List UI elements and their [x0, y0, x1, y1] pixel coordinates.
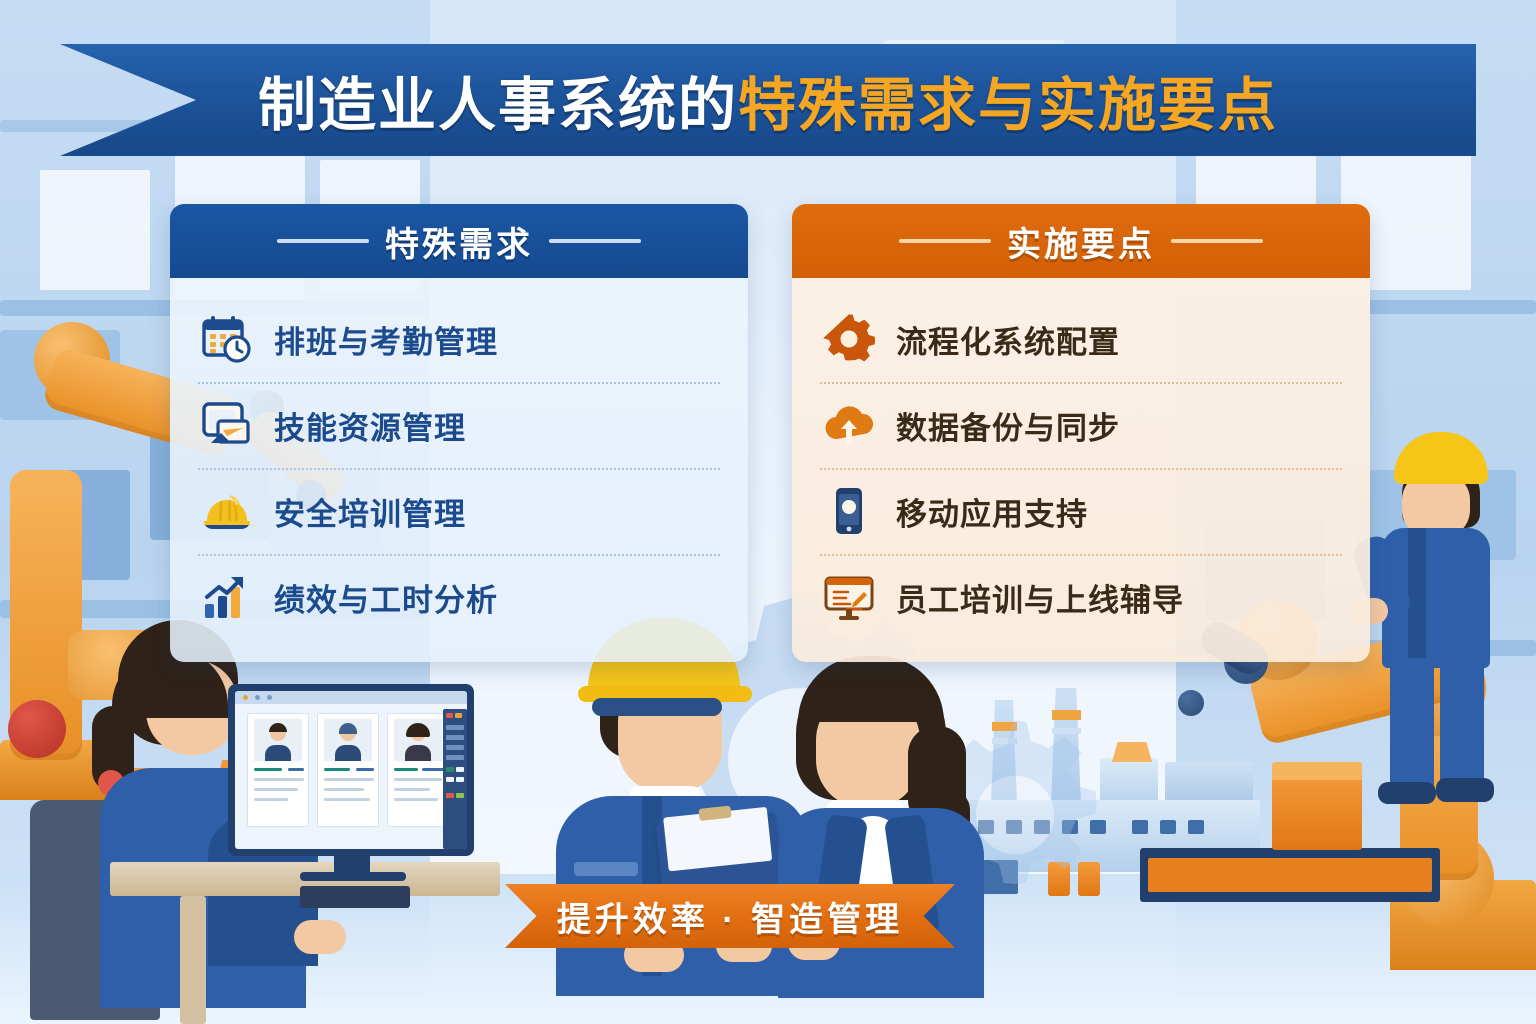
panel-right-header: 实施要点	[792, 204, 1370, 278]
header-rule-right	[1171, 239, 1263, 243]
cloud-upload-icon	[822, 398, 876, 452]
feature-label: 数据备份与同步	[896, 403, 1120, 448]
page-title: 制造业人事系统的特殊需求与实施要点	[258, 58, 1278, 142]
avatar	[254, 719, 302, 761]
header-rule-left	[899, 239, 991, 243]
hard-hat-icon	[200, 484, 254, 538]
desk-leg	[180, 896, 206, 1024]
feature-item-employee-training[interactable]: 员工培训与上线辅导	[818, 554, 1344, 640]
panel-right-title: 实施要点	[1007, 217, 1155, 266]
header-rule-right	[549, 239, 641, 243]
feature-item-performance-hours[interactable]: 绩效与工时分析	[196, 554, 722, 640]
panel-left-title: 特殊需求	[385, 217, 533, 266]
panel-right-body: 流程化系统配置 数据备份与同步 移动应用支持	[792, 278, 1370, 662]
header-rule-left	[277, 239, 369, 243]
calendar-clock-icon	[200, 312, 254, 366]
monitor-screen	[235, 691, 467, 849]
slogan-text: 提升效率 · 智造管理	[557, 892, 903, 941]
feature-label: 绩效与工时分析	[274, 575, 498, 620]
panel-left-body: 排班与考勤管理 技能资源管理	[170, 278, 748, 662]
monitor-sidebar	[443, 709, 467, 849]
panel-left-header: 特殊需求	[170, 204, 748, 278]
feature-item-safety-training[interactable]: 安全培训管理	[196, 468, 722, 554]
feature-item-shift-attendance[interactable]: 排班与考勤管理	[196, 296, 722, 382]
feature-label: 安全培训管理	[274, 489, 466, 534]
employee-profile-card[interactable]	[317, 713, 379, 827]
person-worker-standing-right	[1368, 418, 1518, 798]
feature-label: 排班与考勤管理	[274, 317, 498, 362]
panel-implementation-points: 实施要点 流程化系统配置 数据备份与同步	[792, 204, 1370, 662]
panel-special-requirements: 特殊需求	[170, 204, 748, 662]
employee-profile-card[interactable]	[247, 713, 309, 827]
feature-item-mobile-support[interactable]: 移动应用支持	[818, 468, 1344, 554]
title-segment-gold: 特殊需求与实施要点	[738, 73, 1278, 138]
gear-icon	[822, 312, 876, 366]
feature-label: 技能资源管理	[274, 403, 466, 448]
feature-item-process-config[interactable]: 流程化系统配置	[818, 296, 1344, 382]
main-title-banner: 制造业人事系统的特殊需求与实施要点	[60, 44, 1476, 156]
feature-label: 移动应用支持	[896, 489, 1088, 534]
screen-training-icon	[822, 570, 876, 624]
hard-hat	[1394, 432, 1488, 484]
monitor-base	[300, 872, 406, 881]
feature-label: 流程化系统配置	[896, 317, 1120, 362]
employee-profile-card[interactable]	[387, 713, 449, 827]
monitor-devices-icon	[200, 398, 254, 452]
mobile-phone-icon	[822, 484, 876, 538]
avatar	[394, 719, 442, 761]
feature-label: 员工培训与上线辅导	[896, 575, 1184, 620]
avatar	[324, 719, 372, 761]
title-segment-white: 制造业人事系统的	[258, 73, 738, 138]
feature-item-skill-resource[interactable]: 技能资源管理	[196, 382, 722, 468]
bar-chart-growth-icon	[200, 570, 254, 624]
keyboard	[300, 886, 410, 908]
feature-item-backup-sync[interactable]: 数据备份与同步	[818, 382, 1344, 468]
bottom-slogan-banner: 提升效率 · 智造管理	[505, 884, 955, 948]
hr-system-monitor	[228, 684, 474, 856]
